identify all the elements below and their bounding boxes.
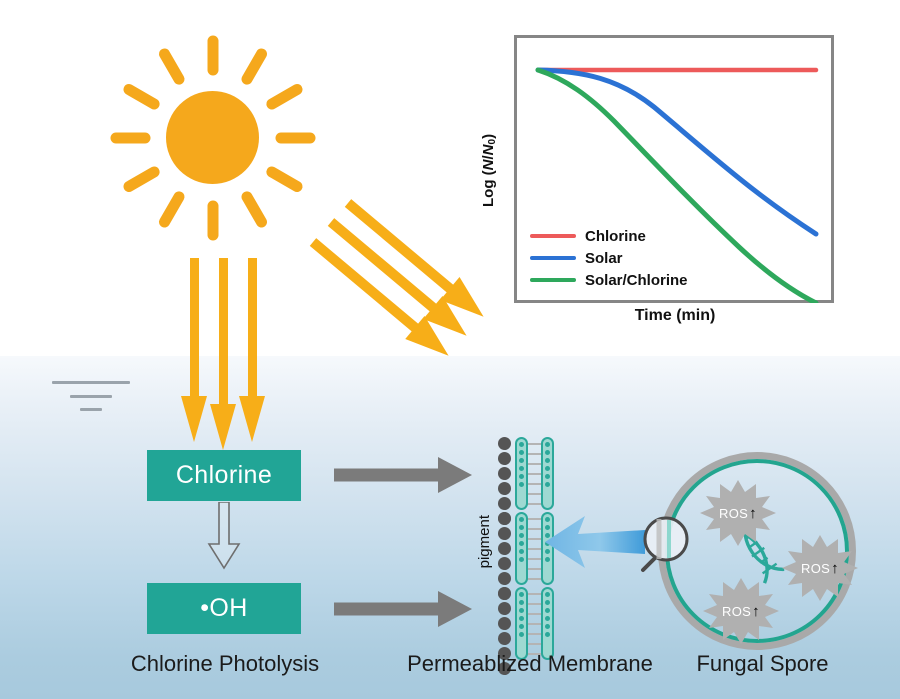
membrane-segment	[498, 437, 556, 510]
legend-swatch-solar	[530, 256, 576, 260]
sun-ray	[207, 35, 218, 75]
chart-x-axis-label: Time (min)	[570, 307, 780, 325]
lipid-bilayer	[515, 587, 555, 660]
magnifying-glass	[629, 514, 691, 576]
hydroxyl-radical-box: •OH	[147, 583, 301, 634]
sun-ray	[207, 200, 218, 240]
sun-ray	[239, 46, 269, 86]
pigment-label: pigment	[476, 515, 493, 568]
legend-swatch-chlorine	[530, 234, 576, 238]
gray-arrow-bottom	[334, 591, 474, 627]
lipid-column-left	[515, 512, 528, 585]
lipid-bilayer	[515, 437, 555, 510]
legend-label-solar-chlorine: Solar/Chlorine	[585, 272, 688, 289]
caption-permeablized-membrane: Permeablized Membrane	[385, 651, 675, 677]
ros-burst: ROS↑	[703, 578, 779, 644]
membrane-segment	[498, 587, 556, 660]
lipid-column-left	[515, 437, 528, 510]
lipid-column-right	[541, 437, 554, 510]
legend-item-solar: Solar	[530, 247, 688, 269]
sun-ray	[121, 164, 161, 194]
caption-chlorine-photolysis: Chlorine Photolysis	[100, 651, 350, 677]
figure-canvas: Log (N/N0) Time (min) Chlorine Solar Sol…	[0, 0, 900, 699]
ros-burst: ROS↑	[700, 480, 776, 546]
sun-ray	[156, 46, 186, 86]
ros-label: ROS↑	[703, 578, 779, 644]
legend-label-solar: Solar	[585, 250, 623, 267]
legend-swatch-solar-chlorine	[530, 278, 576, 282]
chart-legend: Chlorine Solar Solar/Chlorine	[530, 225, 688, 291]
lipid-column-right	[541, 587, 554, 660]
chart-y-axis-label: Log (N/N0)	[477, 105, 501, 235]
sun-ray	[110, 132, 150, 143]
legend-label-chlorine: Chlorine	[585, 228, 646, 245]
ros-label: ROS↑	[782, 535, 858, 601]
sun-core	[166, 91, 259, 184]
ros-label: ROS↑	[700, 480, 776, 546]
sun-ray	[121, 81, 161, 111]
sun	[110, 35, 315, 240]
sun-ray	[239, 189, 269, 229]
lipid-column-left	[515, 587, 528, 660]
caption-fungal-spore: Fungal Spore	[680, 651, 845, 677]
legend-item-chlorine: Chlorine	[530, 225, 688, 247]
conversion-arrow	[206, 502, 242, 570]
sun-ray	[264, 81, 304, 111]
gray-arrow-top	[334, 457, 474, 493]
chlorine-box: Chlorine	[147, 450, 301, 501]
sun-ray	[156, 189, 186, 229]
ros-burst: ROS↑	[782, 535, 858, 601]
legend-item-solar-chlorine: Solar/Chlorine	[530, 269, 688, 291]
sun-ray	[275, 132, 315, 143]
sun-ray	[264, 164, 304, 194]
